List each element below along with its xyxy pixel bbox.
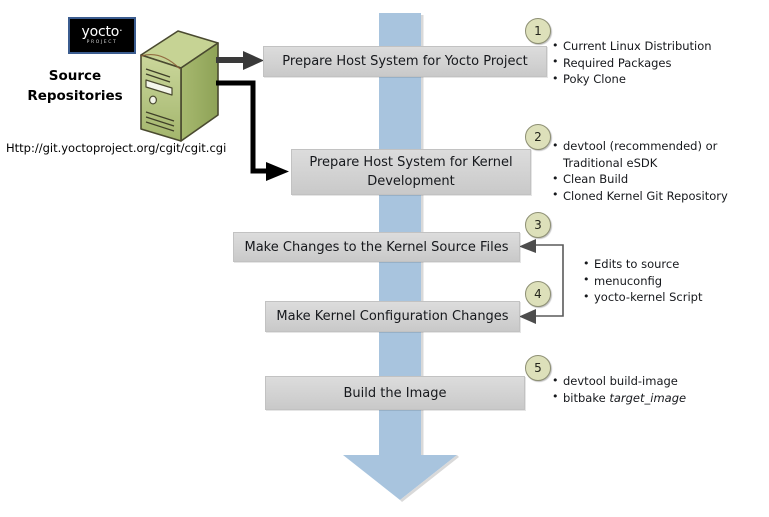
- step-number-badge-4: 4: [525, 281, 551, 307]
- step-number-badge-2: 2: [525, 124, 551, 150]
- step-number-3-text: 3: [534, 218, 542, 232]
- step-box-make-kernel-source-changes[interactable]: Make Changes to the Kernel Source Files: [233, 232, 520, 262]
- step-box-5-label: Build the Image: [344, 384, 447, 403]
- note-item: yocto-kernel Script: [583, 289, 763, 306]
- step-box-1-label: Prepare Host System for Yocto Project: [282, 52, 527, 71]
- note-item: devtool (recommended) or Traditional eSD…: [552, 138, 764, 171]
- note-item: Cloned Kernel Git Repository: [552, 188, 764, 205]
- step-notes-1: Current Linux Distribution Required Pack…: [552, 38, 766, 88]
- note-item: bitbake target_image: [552, 390, 752, 407]
- connector-server-to-step1: [216, 51, 264, 70]
- step-number-badge-5: 5: [525, 355, 551, 381]
- logo-wordmark: yocto·: [82, 25, 123, 39]
- connector-server-to-step2: [216, 83, 289, 181]
- step-box-2-label-line2: Development: [367, 174, 455, 189]
- step-notes-3-and-4: Edits to source menuconfig yocto-kernel …: [583, 256, 763, 306]
- note-item-italic-variable: target_image: [609, 391, 686, 405]
- step-box-make-kernel-config-changes[interactable]: Make Kernel Configuration Changes: [265, 301, 520, 332]
- source-label-line1: Source: [16, 66, 134, 86]
- note-item: Required Packages: [552, 55, 766, 72]
- step-box-3-label: Make Changes to the Kernel Source Files: [245, 238, 509, 257]
- step-box-4-label: Make Kernel Configuration Changes: [276, 307, 508, 326]
- logo-dot: ·: [119, 24, 122, 37]
- source-label-line2: Repositories: [16, 86, 134, 106]
- logo-word-text: yocto: [82, 24, 120, 40]
- note-item-prefix: bitbake: [563, 391, 609, 405]
- source-repositories-url: Http://git.yoctoproject.org/cgit/cgit.cg…: [6, 141, 226, 155]
- step-box-prepare-host-kernel[interactable]: Prepare Host System for Kernel Developme…: [291, 149, 531, 195]
- step-number-5-text: 5: [534, 361, 542, 375]
- step-number-1-text: 1: [534, 24, 542, 38]
- yocto-project-logo: yocto· PROJECT: [68, 17, 136, 54]
- step-box-prepare-host-yocto[interactable]: Prepare Host System for Yocto Project: [263, 46, 547, 77]
- step-number-2-text: 2: [534, 130, 542, 144]
- step-notes-5: devtool build-image bitbake target_image: [552, 373, 752, 406]
- step-number-badge-1: 1: [525, 18, 551, 44]
- note-item: menuconfig: [583, 273, 763, 290]
- step-notes-2: devtool (recommended) or Traditional eSD…: [552, 138, 764, 204]
- note-item: Current Linux Distribution: [552, 38, 766, 55]
- step-box-2-label: Prepare Host System for Kernel Developme…: [309, 153, 512, 191]
- note-item: Poky Clone: [552, 71, 766, 88]
- step-box-build-the-image[interactable]: Build the Image: [265, 376, 525, 410]
- note-item: Edits to source: [583, 256, 763, 273]
- note-item: devtool build-image: [552, 373, 752, 390]
- note-item: Clean Build: [552, 171, 764, 188]
- server-tower-icon: [141, 31, 218, 141]
- logo-subtitle: PROJECT: [87, 41, 118, 46]
- step-number-4-text: 4: [534, 287, 542, 301]
- step-number-badge-3: 3: [525, 212, 551, 238]
- source-repositories-label: Source Repositories: [16, 66, 134, 106]
- step-box-2-label-line1: Prepare Host System for Kernel: [309, 155, 512, 170]
